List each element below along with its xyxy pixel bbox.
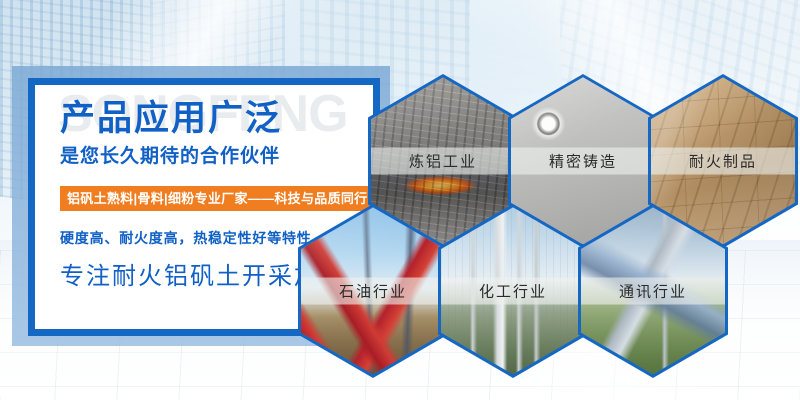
hexagon-label-chemical: 化工行业 <box>441 277 585 304</box>
hexagon-label-petroleum: 石油行业 <box>301 277 445 304</box>
hexagon-label-casting: 精密铸造 <box>511 147 655 174</box>
hexagon-label-refractory: 耐火制品 <box>651 147 795 174</box>
hexagon-label-smelting: 炼铝工业 <box>371 147 515 174</box>
industry-hexagon-grid: 炼铝工业 精密铸造 耐火制品 石油行业 <box>0 0 800 400</box>
promo-banner: SONGFENG 产品应用广泛 是您长久期待的合作伙伴 铝矾土熟料|骨料|细粉专… <box>0 0 800 400</box>
hexagon-label-communication: 通讯行业 <box>581 277 725 304</box>
